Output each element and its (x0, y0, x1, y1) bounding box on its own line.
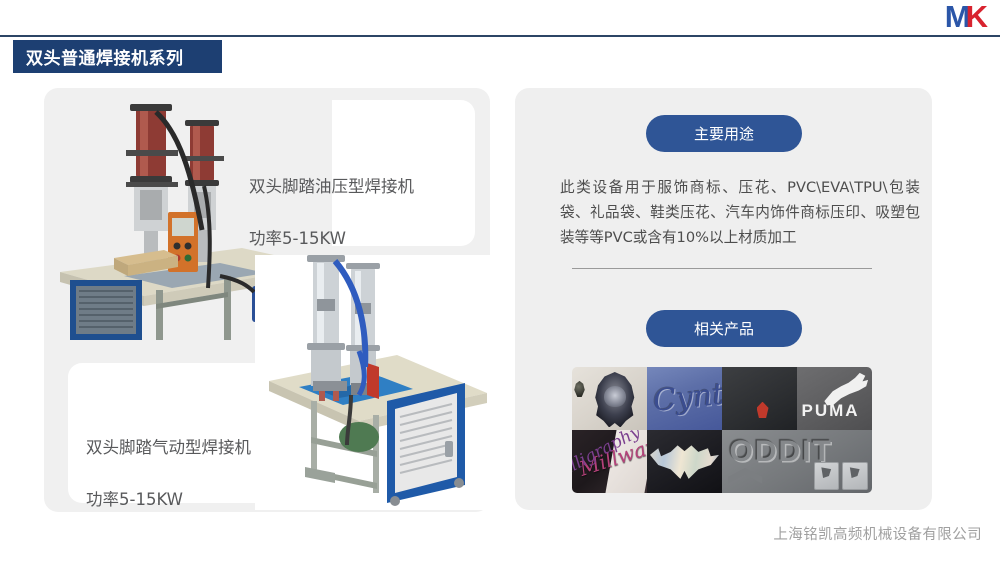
logo-letter-k: K (966, 0, 986, 34)
related-products-pill: 相关产品 (646, 310, 802, 347)
related-products-gallery: Cynthia PUMA Millway Calligraphy ODDIT (572, 367, 872, 493)
main-use-pill: 主要用途 (646, 115, 802, 152)
gallery-tile-puma: PUMA (797, 367, 872, 430)
tiger-face-icon (604, 386, 627, 407)
product-name-2: 双头脚踏气动型焊接机 (86, 435, 251, 461)
gallery-tile-blue-script: Cynthia (647, 367, 722, 430)
product-power-1: 功率5-15KW (249, 226, 414, 252)
page-title: 双头普通焊接机系列 (13, 40, 222, 73)
gallery-tile-pink-script: Millway Calligraphy (572, 430, 647, 493)
batman-logo-icon (650, 444, 719, 481)
product-photo-pneumatic (255, 255, 505, 510)
care-label-icon-2 (842, 462, 868, 491)
red-emblem-icon (757, 402, 769, 418)
page-title-label: 双头普通焊接机系列 (26, 44, 184, 69)
product-name-1: 双头脚踏油压型焊接机 (249, 174, 414, 200)
product-label-1: 双头脚踏油压型焊接机 功率5-15KW (249, 148, 414, 278)
chevron-emboss-icon (728, 468, 785, 491)
product-power-2: 功率5-15KW (86, 487, 251, 513)
gallery-tile-caption-cynthia: Cynthia (652, 375, 722, 417)
gallery-tile-batman (647, 430, 722, 493)
crest-icon (574, 381, 585, 397)
main-use-body: 此类设备用于服饰商标、压花、PVC\EVA\TPU\包装袋、礼品袋、鞋类压花、汽… (560, 175, 920, 250)
gallery-tile-dark-fabric (722, 367, 797, 430)
header-divider (0, 35, 1000, 37)
gallery-tile-embossed-lettering: ODDIT (722, 430, 872, 493)
related-products-pill-label: 相关产品 (694, 318, 754, 339)
slide-page: MK 双头普通焊接机系列 (0, 0, 1000, 562)
section-divider (572, 268, 872, 269)
mk-logo: MK (945, 2, 986, 32)
gallery-tile-caption-puma: PUMA (802, 401, 860, 421)
product-label-2: 双头脚踏气动型焊接机 功率5-15KW (86, 409, 251, 539)
care-label-icon-1 (814, 462, 840, 491)
main-use-pill-label: 主要用途 (694, 123, 754, 144)
gallery-tile-tiger-emblem (572, 367, 647, 430)
company-footer: 上海铭凯高频机械设备有限公司 (773, 523, 982, 544)
